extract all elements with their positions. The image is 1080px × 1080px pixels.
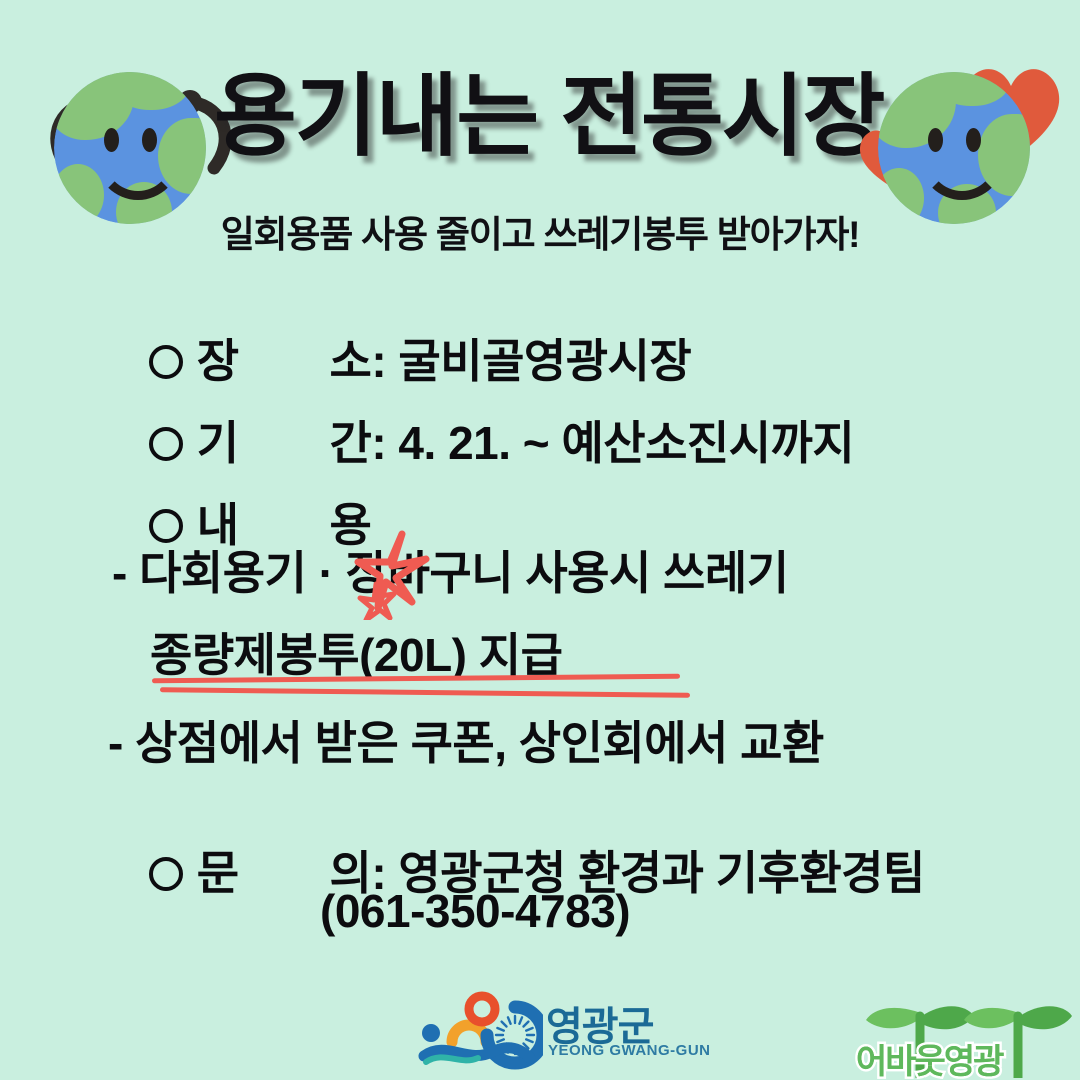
earth-smiley-left-icon — [54, 72, 206, 224]
highlight-underline-bottom — [160, 687, 690, 698]
poster-title: 용기내는 전통시장 — [214, 72, 874, 162]
poster-canvas: 용기내는 전통시장 — [0, 0, 1080, 1080]
yeonggwang-name-en: YEONG GWANG-GUN — [548, 1042, 711, 1059]
poster-subtitle: 일회용품 사용 줄이고 쓰레기봉투 받아가자! — [140, 204, 940, 258]
info-detail-line-1b: 종량제봉투(20L) 지급 — [150, 632, 562, 678]
bullet-circle-icon — [149, 857, 183, 891]
info-row-phone: (061-350-4783) — [320, 888, 630, 934]
info-detail-line-1a: - 다회용기 · 장바구니 사용시 쓰레기 — [112, 550, 789, 596]
about-yeonggwang-name: 어바웃영광 — [856, 1034, 1002, 1080]
info-detail-line-2: - 상점에서 받은 쿠폰, 상인회에서 교환 — [108, 720, 824, 766]
yeonggwang-gun-logo: 영광군 YEONG GWANG-GUN — [418, 988, 678, 1078]
info-row-content-label-text: 내 용 — [197, 499, 372, 551]
bullet-circle-icon — [149, 509, 183, 543]
poster-header: 용기내는 전통시장 — [0, 0, 1080, 280]
star-doodle-icon — [352, 528, 444, 620]
yeonggwang-emblem-icon — [418, 990, 543, 1075]
earth-smiley-right-icon — [878, 72, 1030, 224]
about-yeonggwang-logo: 어바웃영광 어바웃영광 — [860, 998, 1080, 1080]
